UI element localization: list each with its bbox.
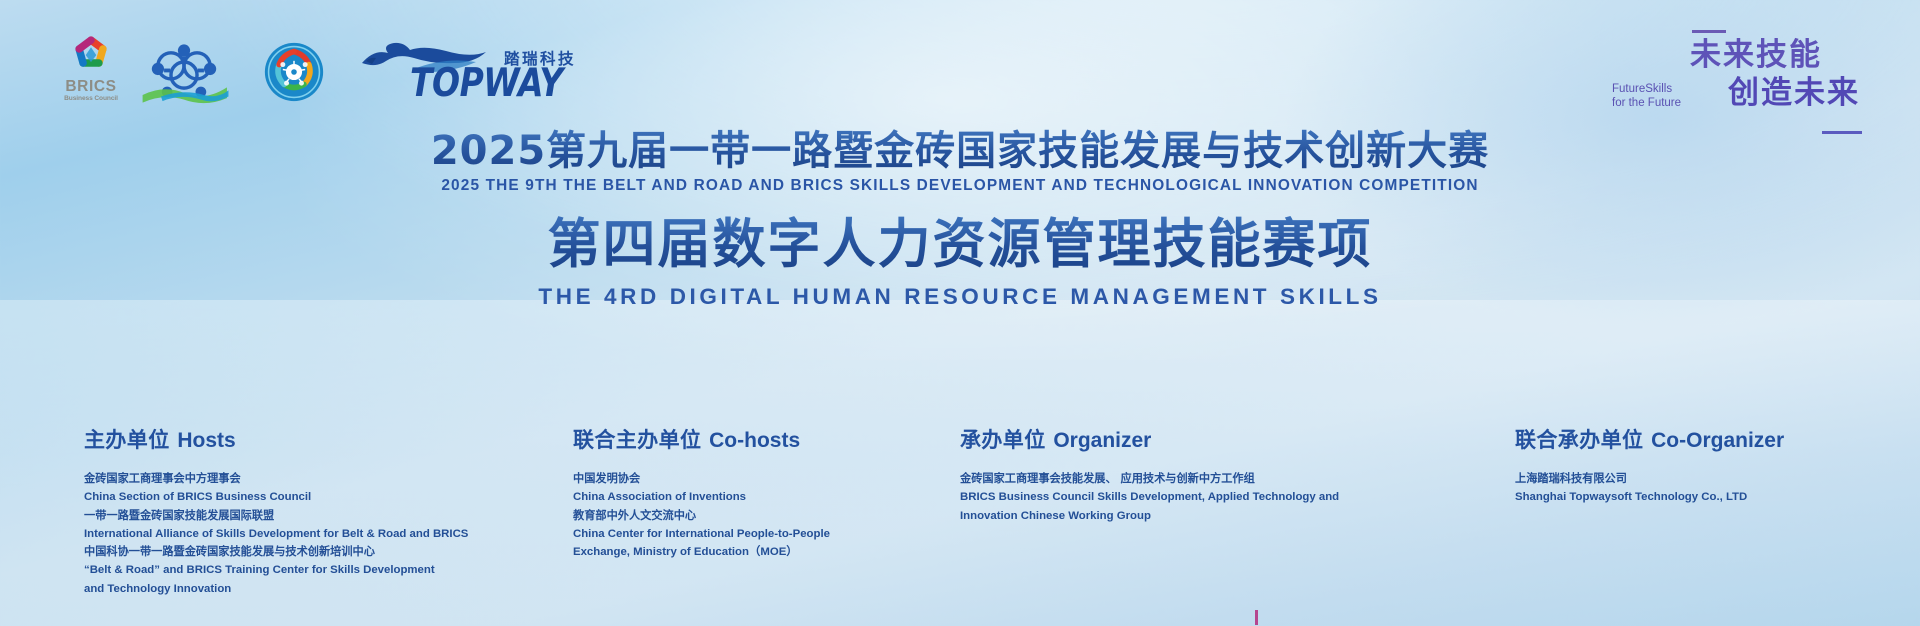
event-title-en: THE 4RD DIGITAL HUMAN RESOURCE MANAGEMEN… [0,284,1920,310]
org-entry-list: 金砖国家工商理事会技能发展、 应用技术与创新中方工作组 BRICS Busine… [960,470,1390,525]
org-heading-en: Co-Organizer [1651,429,1784,452]
circular-star-gear-emblem-icon [258,41,330,103]
interlocking-rings-emblem-icon [138,41,230,103]
org-heading: 联合承办单位 Co-Organizer [1515,430,1845,451]
org-entry-line: 上海踏瑞科技有限公司 [1515,470,1845,488]
org-entry-line: 金砖国家工商理事会中方理事会 [84,470,484,488]
org-entry-line: 教育部中外人文交流中心 [573,507,903,525]
org-column-co-hosts: 联合主办单位 Co-hosts 中国发明协会 China Association… [573,430,903,562]
org-entry-line: 金砖国家工商理事会技能发展、 应用技术与创新中方工作组 [960,470,1390,488]
logo-strip: BRICS Business Council [62,34,608,103]
org-heading: 承办单位 Organizer [960,430,1390,451]
topway-wordmark: TOPWAY [410,63,563,102]
organization-columns: 主办单位 Hosts 金砖国家工商理事会中方理事会 China Section … [0,430,1920,610]
skills-training-center-logo [258,41,330,103]
belt-road-brics-skills-alliance-logo [138,41,230,103]
title-block: 2025第九届一带一路暨金砖国家技能发展与技术创新大赛 2025 THE 9TH… [0,128,1920,310]
future-skills-slogan: 未来技能 FutureSkills for the Future 创造未来 [1612,26,1862,134]
org-entry-line: “Belt & Road” and BRICS Training Center … [84,561,484,579]
brics-wordmark: BRICS [65,79,116,95]
org-entry-list: 中国发明协会 China Association of Inventions 教… [573,470,903,562]
org-entry-line: International Alliance of Skills Develop… [84,525,484,543]
org-entry-line: Exchange, Ministry of Education（MOE） [573,543,903,561]
competition-title-en: 2025 THE 9TH THE BELT AND ROAD AND BRICS… [0,177,1920,195]
org-heading-en: Co-hosts [709,429,800,452]
five-color-star-icon [69,34,113,78]
slogan-line-2: 创造未来 [1728,78,1860,109]
org-heading-cn: 联合承办单位 [1515,428,1643,452]
org-column-organizer: 承办单位 Organizer 金砖国家工商理事会技能发展、 应用技术与创新中方工… [960,430,1390,525]
org-entry-line: China Association of Inventions [573,488,903,506]
text-cursor-artifact [1255,610,1258,625]
org-entry-line: 一带一路暨金砖国家技能发展国际联盟 [84,507,484,525]
topway-logo: 踏瑞科技 TOPWAY [358,41,608,103]
org-entry-line: Innovation Chinese Working Group [960,507,1390,525]
event-title-cn: 第四届数字人力资源管理技能赛项 [0,215,1920,275]
slogan-english: FutureSkills for the Future [1612,82,1681,111]
brics-business-council-logo: BRICS Business Council [62,34,120,103]
org-heading: 主办单位 Hosts [84,430,484,451]
org-entry-line: China Center for International People-to… [573,525,903,543]
org-heading-en: Organizer [1053,429,1151,452]
org-heading: 联合主办单位 Co-hosts [573,430,903,451]
org-column-co-organizer: 联合承办单位 Co-Organizer 上海踏瑞科技有限公司 Shanghai … [1515,430,1845,507]
org-entry-line: China Section of BRICS Business Council [84,488,484,506]
org-heading-cn: 承办单位 [960,428,1046,452]
slogan-top-rule [1692,30,1726,33]
org-entry-list: 金砖国家工商理事会中方理事会 China Section of BRICS Bu… [84,470,484,598]
slogan-english-line-1: FutureSkills [1612,82,1681,96]
competition-title-cn: 2025第九届一带一路暨金砖国家技能发展与技术创新大赛 [0,128,1920,174]
org-entry-line: BRICS Business Council Skills Developmen… [960,488,1390,506]
slogan-line-1: 未来技能 [1690,40,1822,71]
org-entry-line: Shanghai Topwaysoft Technology Co., LTD [1515,488,1845,506]
org-entry-list: 上海踏瑞科技有限公司 Shanghai Topwaysoft Technolog… [1515,470,1845,507]
org-column-hosts: 主办单位 Hosts 金砖国家工商理事会中方理事会 China Section … [84,430,484,598]
org-entry-line: 中国科协一带一路暨金砖国家技能发展与技术创新培训中心 [84,543,484,561]
org-heading-cn: 联合主办单位 [573,428,701,452]
org-heading-cn: 主办单位 [84,428,170,452]
org-entry-line: 中国发明协会 [573,470,903,488]
org-heading-en: Hosts [177,429,235,452]
slogan-english-line-2: for the Future [1612,96,1681,110]
brics-subtitle: Business Council [64,96,118,103]
org-entry-line: and Technology Innovation [84,580,484,598]
